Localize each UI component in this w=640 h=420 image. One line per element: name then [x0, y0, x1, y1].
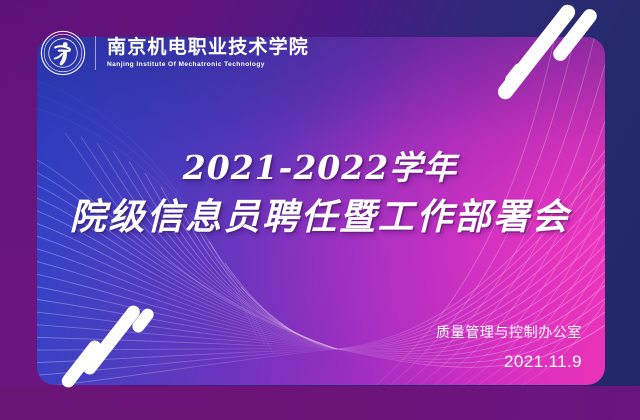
institution-name-cn: 南京机电职业技术学院 — [107, 37, 309, 58]
backdrop-bottom-bar — [0, 386, 640, 420]
university-crest-icon — [40, 30, 86, 76]
institution-name-en: Nanjing Institute Of Mechatronic Technol… — [107, 61, 309, 69]
institution-logo-lockup: 南京机电职业技术学院 Nanjing Institute Of Mechatro… — [40, 30, 309, 76]
institution-name-block: 南京机电职业技术学院 Nanjing Institute Of Mechatro… — [107, 37, 309, 70]
slide-footer: 质量管理与控制办公室 2021.11.9 — [436, 323, 582, 375]
presentation-title-slide: 南京机电职业技术学院 Nanjing Institute Of Mechatro… — [0, 0, 640, 420]
date-label: 2021.11.9 — [436, 349, 582, 375]
logo-divider — [95, 36, 96, 70]
organizer-label: 质量管理与控制办公室 — [436, 323, 582, 344]
